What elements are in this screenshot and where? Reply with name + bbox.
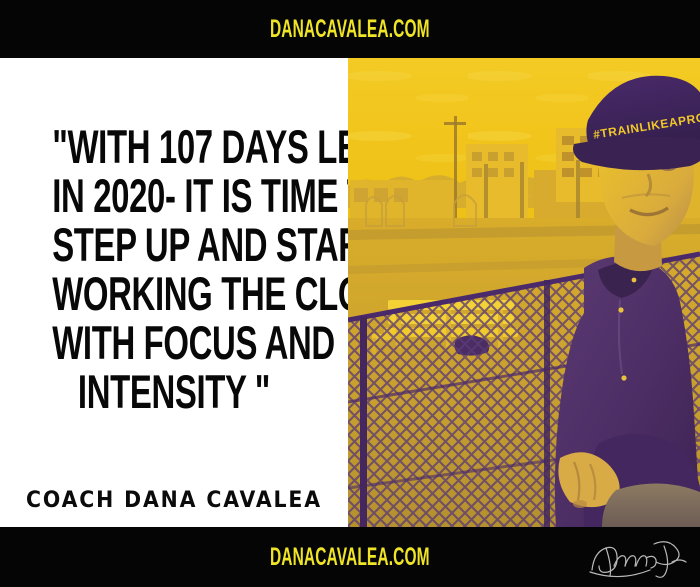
quote-line-2: IN 2020- IT IS TIME TO bbox=[52, 171, 296, 220]
quote-line-4: WORKING THE CLOCK bbox=[52, 269, 296, 318]
ring bbox=[573, 500, 587, 508]
bottom-banner: DANACAVALEA.COM bbox=[0, 527, 700, 587]
quote-text: "WITH 107 DAYS LEFT IN 2020- IT IS TIME … bbox=[0, 122, 348, 416]
quote-line-6: INTENSITY " bbox=[52, 367, 296, 416]
fence-post bbox=[360, 316, 367, 527]
photo-artwork: #TRAINLIKEAPRO bbox=[348, 58, 700, 527]
quote-attribution: COACH DANA CAVALEA bbox=[12, 488, 336, 513]
quote-line-5: WITH FOCUS AND bbox=[52, 318, 296, 367]
quote-line-1: "WITH 107 DAYS LEFT bbox=[52, 122, 296, 171]
duotone-photo: #TRAINLIKEAPRO bbox=[348, 58, 700, 527]
light-pole bbox=[484, 164, 488, 226]
bottom-banner-url: DANACAVALEA.COM bbox=[270, 545, 430, 570]
quote-poster: DANACAVALEA.COM "WITH 107 DAYS LEFT IN 2… bbox=[0, 0, 700, 587]
top-banner-url: DANACAVALEA.COM bbox=[270, 17, 430, 42]
jeans bbox=[602, 483, 700, 527]
quote-panel: "WITH 107 DAYS LEFT IN 2020- IT IS TIME … bbox=[0, 58, 348, 527]
quote-line-3: STEP UP AND START bbox=[52, 220, 296, 269]
top-banner: DANACAVALEA.COM bbox=[0, 0, 700, 58]
